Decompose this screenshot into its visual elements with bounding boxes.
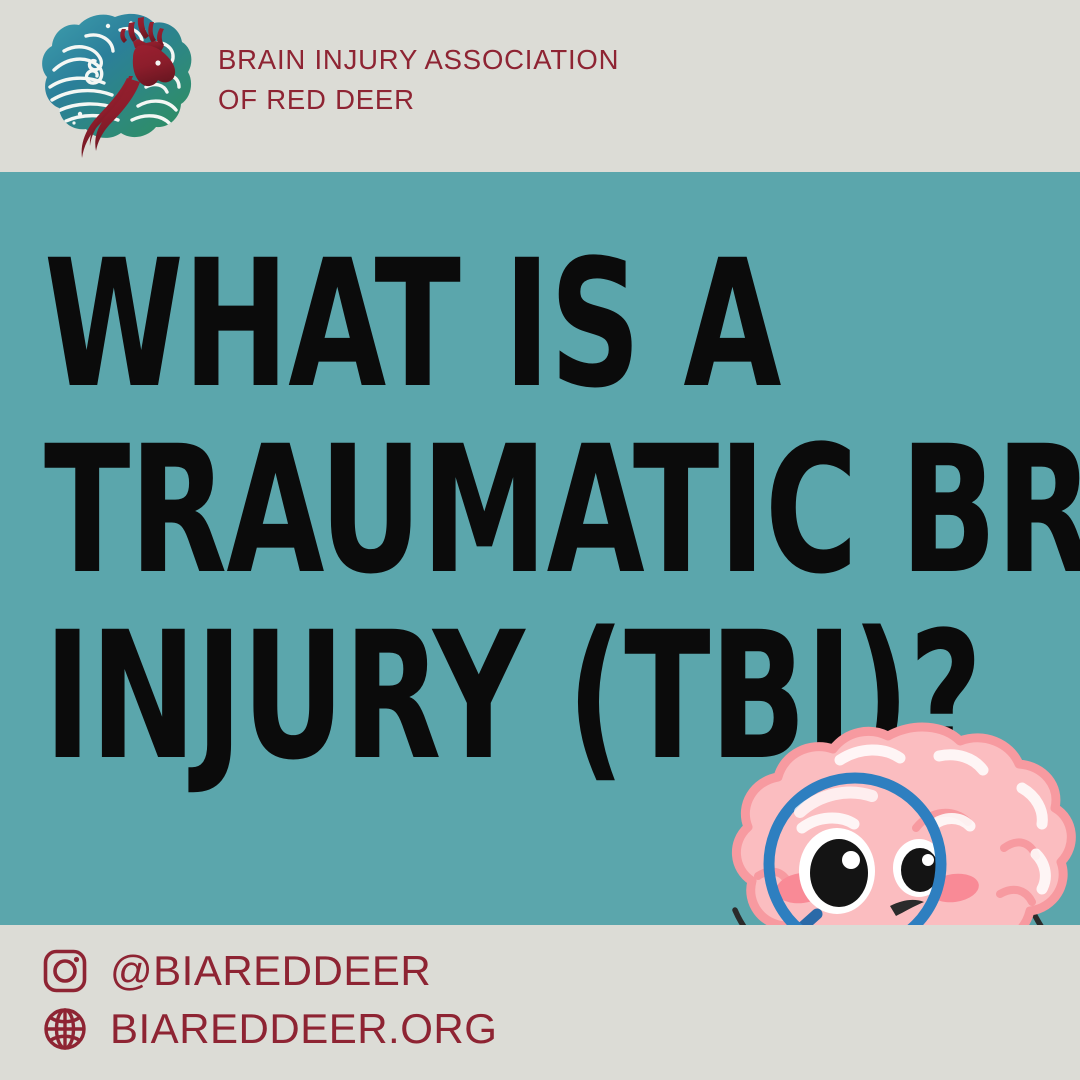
globe-icon xyxy=(42,1006,88,1052)
org-name-line-2: OF RED DEER xyxy=(218,80,918,120)
instagram-icon xyxy=(42,948,88,994)
brain-deer-logo-icon xyxy=(34,10,196,162)
instagram-handle: @BIAREDDEER xyxy=(110,948,431,994)
contact-list: @BIAREDDEER BIAREDDEER.ORG xyxy=(42,942,497,1058)
org-name-line-1: BRAIN INJURY ASSOCIATION xyxy=(218,44,619,75)
header-bar: BRAIN INJURY ASSOCIATION OF RED DEER xyxy=(0,0,1080,172)
contact-instagram[interactable]: @BIAREDDEER xyxy=(42,942,497,1000)
page-title: WHAT IS A TRAUMATIC BRAIN INJURY (TBI)? xyxy=(44,232,836,790)
contact-website[interactable]: BIAREDDEER.ORG xyxy=(42,1000,497,1058)
headline-line-1: WHAT IS A xyxy=(44,232,836,418)
website-url: BIAREDDEER.ORG xyxy=(110,1006,497,1052)
organization-name: BRAIN INJURY ASSOCIATION OF RED DEER xyxy=(218,40,918,120)
headline-line-2: TRAUMATIC BRAIN xyxy=(44,418,836,604)
social-post-canvas: BRAIN INJURY ASSOCIATION OF RED DEER WHA… xyxy=(0,0,1080,1080)
